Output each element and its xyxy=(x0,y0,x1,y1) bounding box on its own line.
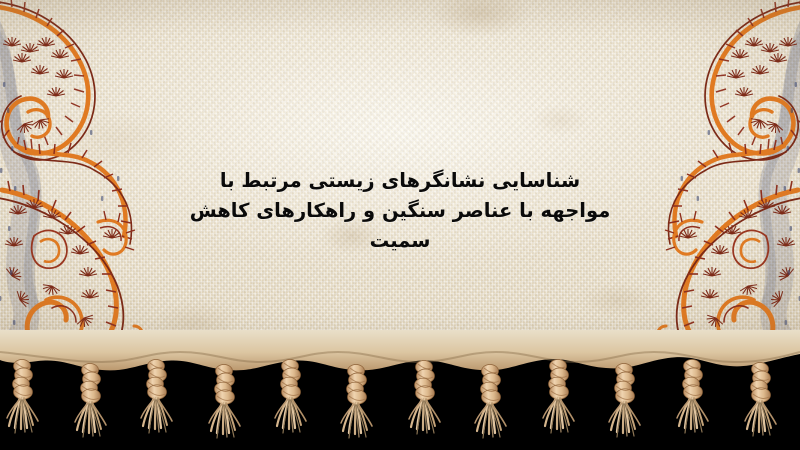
tassel-fringe-svg xyxy=(0,330,800,450)
title-line-3: سمیت xyxy=(185,226,615,256)
title-line-1: شناسایی نشانگرهای زیستی مرتبط با xyxy=(185,166,615,196)
slide-title: شناسایی نشانگرهای زیستی مرتبط با مواجهه … xyxy=(185,166,615,256)
title-slide: شناسایی نشانگرهای زیستی مرتبط با مواجهه … xyxy=(0,0,800,450)
title-line-2: مواجهه با عناصر سنگین و راهکارهای کاهش xyxy=(185,196,615,226)
tassel-fringe xyxy=(0,330,800,450)
